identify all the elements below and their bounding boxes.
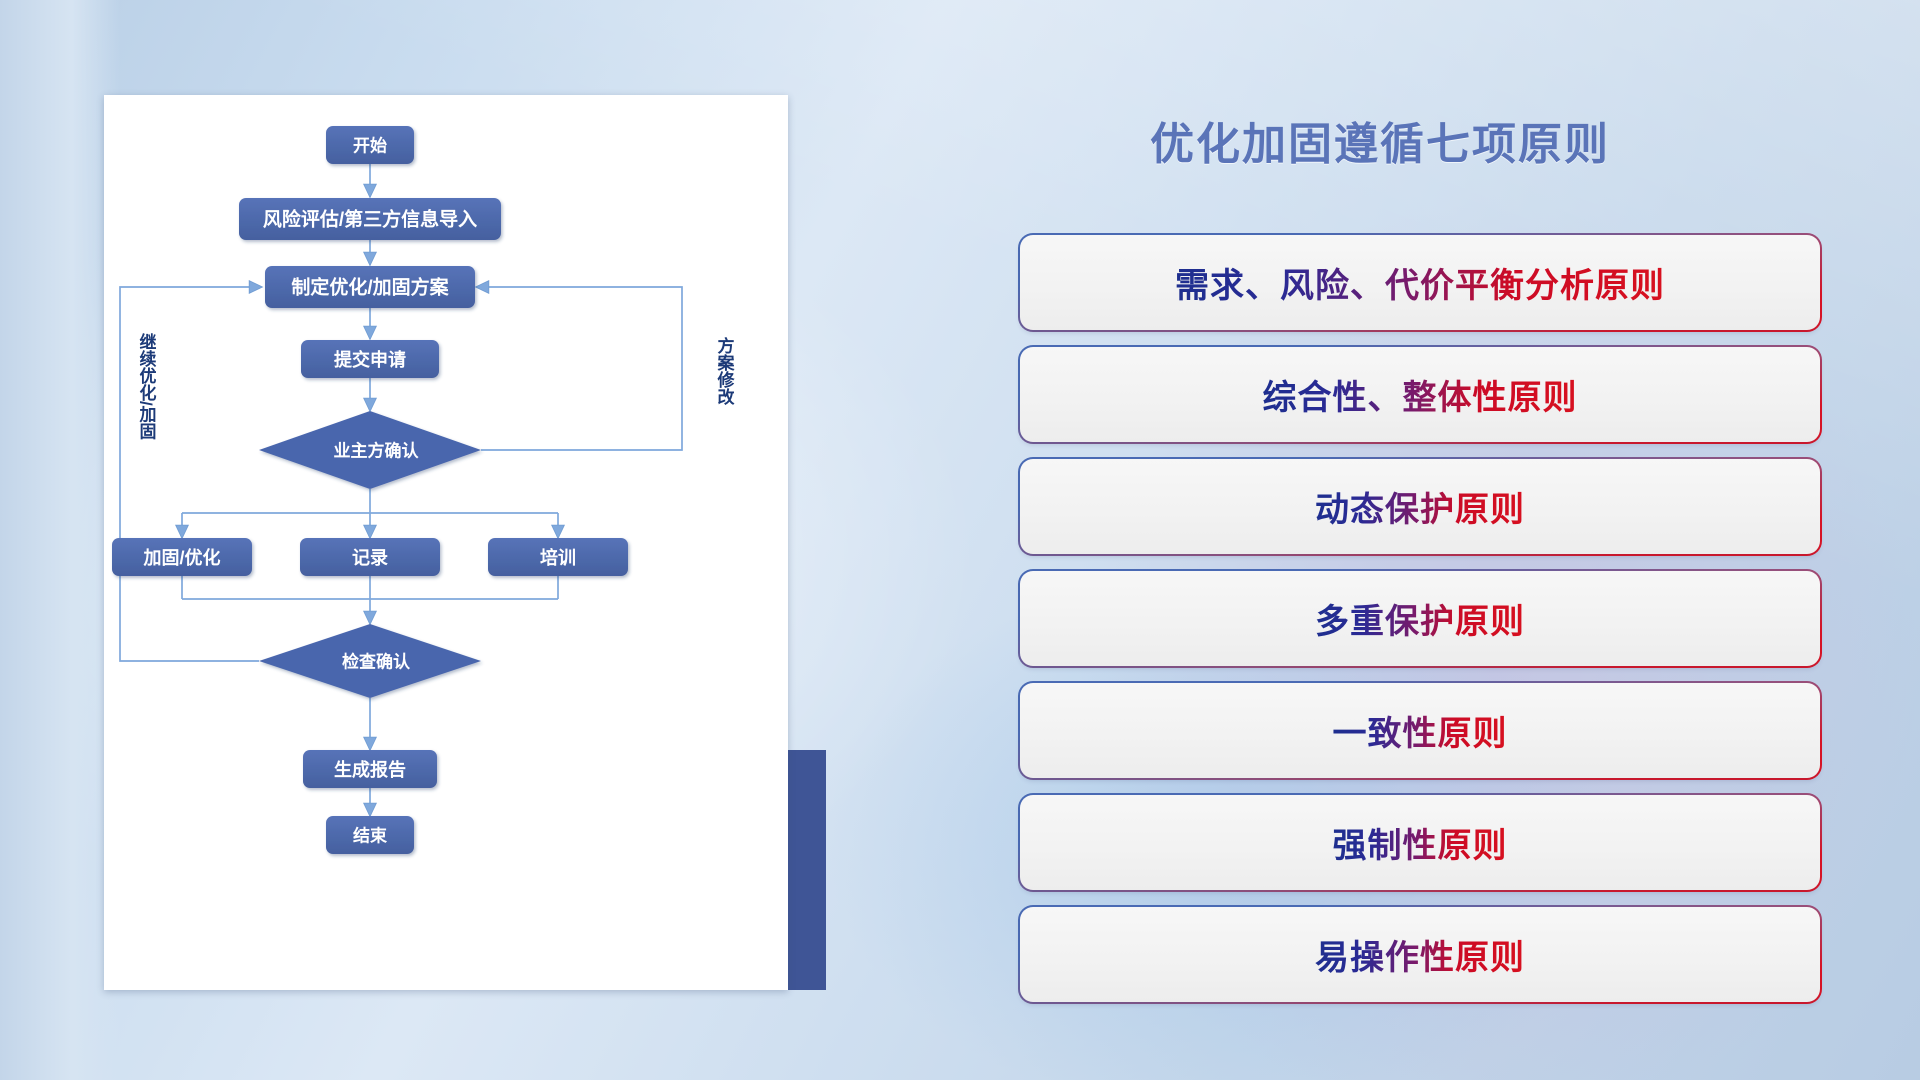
flow-node-label: 记录	[352, 548, 388, 568]
principle-card-6[interactable]: 强制性原则	[1020, 795, 1820, 890]
principle-label: 强制性原则	[1333, 818, 1508, 867]
flow-node-label: 检查确认	[342, 652, 411, 672]
principle-label: 动态保护原则	[1315, 482, 1525, 531]
principle-label: 一致性原则	[1333, 706, 1508, 755]
principle-card-4[interactable]: 多重保护原则	[1020, 571, 1820, 666]
flow-node-label: 提交申请	[334, 349, 406, 370]
flow-node-label: 风险评估/第三方信息导入	[263, 208, 477, 231]
flow-edge-label-plan-revision: 方案修改	[715, 336, 736, 406]
flow-node-submit-application[interactable]: 提交申请	[301, 340, 439, 378]
flow-node-training[interactable]: 培训	[488, 538, 628, 576]
flow-node-reinforce-optimize[interactable]: 加固/优化	[112, 538, 252, 576]
page-title: 优化加固遵循七项原则	[1150, 108, 1850, 172]
principle-card-5[interactable]: 一致性原则	[1020, 683, 1820, 778]
flow-node-end[interactable]: 结束	[326, 816, 414, 854]
flow-edge-label-continue-optimize: 继续优化/加固	[137, 332, 158, 441]
flow-node-start[interactable]: 开始	[326, 126, 414, 164]
principle-label: 多重保护原则	[1315, 594, 1525, 643]
flow-node-label: 生成报告	[334, 759, 406, 780]
flow-node-inspection-confirm[interactable]: 检查确认	[259, 624, 481, 698]
flow-node-label: 结束	[353, 826, 387, 846]
flow-node-label: 业主方确认	[334, 441, 420, 461]
flow-node-label: 开始	[353, 136, 387, 156]
principle-card-1[interactable]: 需求、风险、代价平衡分析原则	[1020, 235, 1820, 330]
principle-label: 易操作性原则	[1315, 930, 1525, 979]
principle-label: 综合性、整体性原则	[1263, 370, 1578, 419]
principles-panel: 优化加固遵循七项原则 需求、风险、代价平衡分析原则 综合性、整体性原则 动态保护…	[1020, 0, 1920, 1080]
principle-card-2[interactable]: 综合性、整体性原则	[1020, 347, 1820, 442]
flowchart-card: 开始 风险评估/第三方信息导入 制定优化/加固方案 提交申请 业主方确认 加固/…	[104, 95, 788, 990]
flow-node-generate-report[interactable]: 生成报告	[303, 750, 437, 788]
flow-node-label: 培训	[540, 547, 576, 568]
flowchart-connectors	[120, 164, 682, 814]
principle-card-3[interactable]: 动态保护原则	[1020, 459, 1820, 554]
flow-node-owner-confirm[interactable]: 业主方确认	[259, 411, 481, 489]
principles-list: 需求、风险、代价平衡分析原则 综合性、整体性原则 动态保护原则 多重保护原则 一…	[1020, 235, 1840, 1019]
flow-node-risk-assessment[interactable]: 风险评估/第三方信息导入	[239, 198, 501, 240]
flow-node-make-plan[interactable]: 制定优化/加固方案	[265, 266, 475, 308]
flow-node-record[interactable]: 记录	[300, 538, 440, 576]
principle-card-7[interactable]: 易操作性原则	[1020, 907, 1820, 1002]
flow-node-label: 制定优化/加固方案	[291, 276, 449, 299]
principle-label: 需求、风险、代价平衡分析原则	[1175, 258, 1665, 307]
flowchart-diagram: 开始 风险评估/第三方信息导入 制定优化/加固方案 提交申请 业主方确认 加固/…	[104, 95, 788, 990]
flow-node-label: 加固/优化	[142, 547, 220, 568]
